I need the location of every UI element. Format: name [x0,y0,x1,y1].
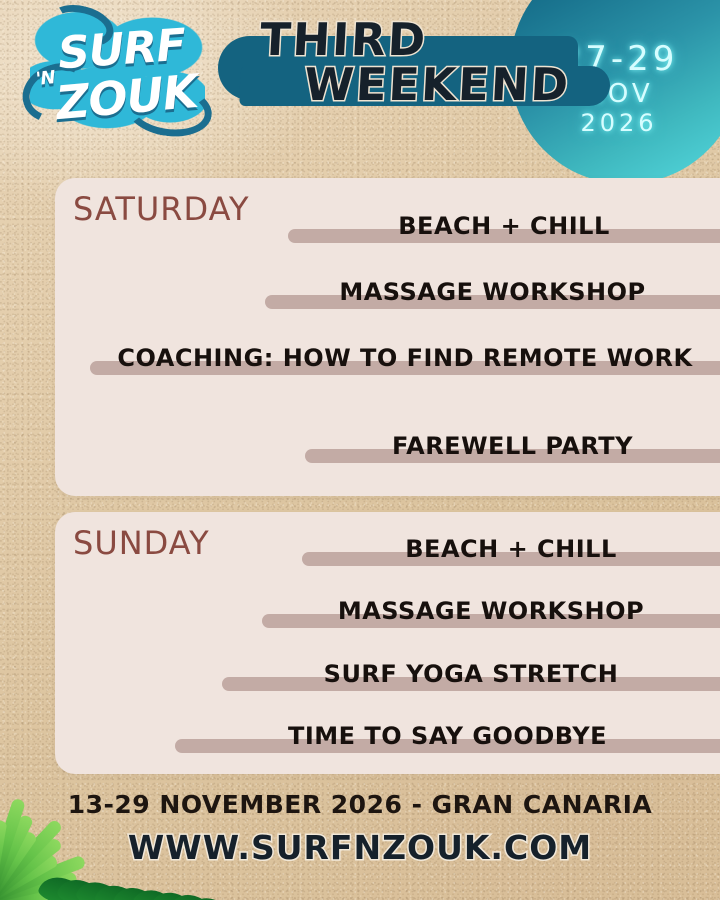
event-label: SURF YOGA STRETCH [222,660,720,688]
event-row: MASSAGE WORKSHOP [265,269,720,315]
day-panel-sunday: SUNDAY BEACH + CHILL MASSAGE WORKSHOP SU… [55,512,720,774]
event-label: FAREWELL PARTY [305,432,720,460]
event-row: TIME TO SAY GOODBYE [175,713,720,759]
event-title: THIRD WEEKEND [246,18,576,106]
logo-text-n: 'N [35,67,56,90]
day-panel-saturday: SATURDAY BEACH + CHILL MASSAGE WORKSHOP … [55,178,720,496]
event-label: TIME TO SAY GOODBYE [175,722,720,750]
event-label: MASSAGE WORKSHOP [262,597,720,625]
event-label: COACHING: HOW TO FIND REMOTE WORK [90,344,720,372]
title-line-1: THIRD [245,18,577,61]
title-line-2: WEEKEND [245,63,577,106]
surf-n-zouk-logo: SURF 'N ZOUK [30,12,205,130]
day-title-sunday: SUNDAY [73,524,210,562]
palm-leaf-decoration [0,760,220,900]
event-label: MASSAGE WORKSHOP [265,278,720,306]
dark-palm-frond-icon [40,808,240,900]
event-row: SURF YOGA STRETCH [222,651,720,697]
event-label: BEACH + CHILL [302,535,720,563]
event-label: BEACH + CHILL [288,212,720,240]
poster-canvas: 27-29 NOV 2026 THIRD WEEKEND SURF 'N ZOU… [0,0,720,900]
event-row: BEACH + CHILL [302,526,720,572]
day-title-saturday: SATURDAY [73,190,250,228]
event-row: FAREWELL PARTY [305,423,720,469]
poster-header: 27-29 NOV 2026 THIRD WEEKEND SURF 'N ZOU… [0,0,720,160]
event-row: BEACH + CHILL [288,203,720,249]
event-row: COACHING: HOW TO FIND REMOTE WORK [90,335,720,381]
date-year: 2026 [580,111,657,136]
event-row: MASSAGE WORKSHOP [262,588,720,634]
